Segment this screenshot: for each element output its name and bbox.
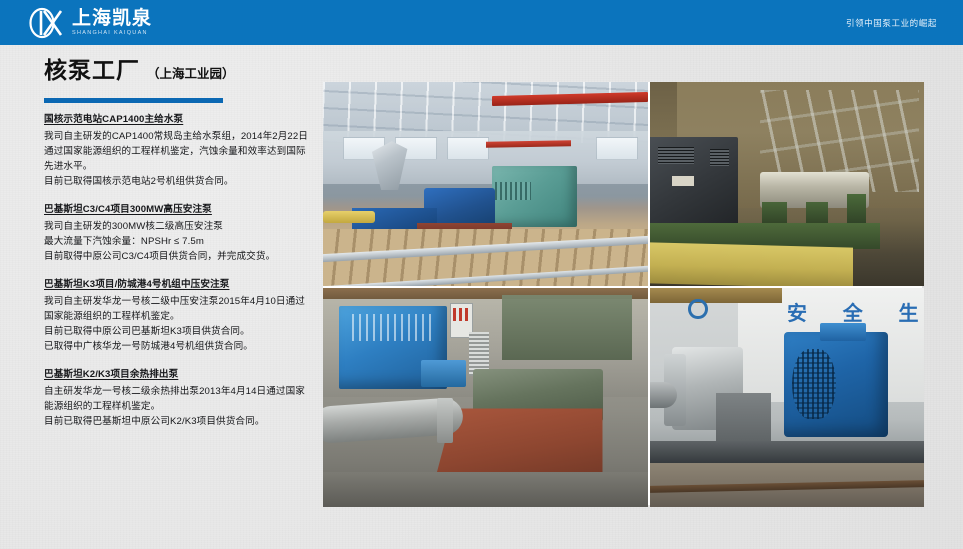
block-4-line-1: 自主研发华龙一号核二级余热排出泵2013年4月14日通过国家: [44, 384, 312, 399]
block-1-line-1: 我司自主研发的CAP1400常规岛主给水泵组，2014年2月22日: [44, 129, 312, 144]
motor-nameplate: [672, 176, 694, 186]
wall-safety-slogan: 安 全 生: [787, 297, 919, 326]
page-title: 核泵工厂 （上海工业园）: [44, 58, 312, 84]
background-green-equipment: [502, 295, 632, 361]
green-support-block: [847, 194, 866, 225]
block-1-line-3: 先进水平。: [44, 159, 312, 174]
block-1-line-4: 目前已取得国核示范电站2号机组供货合同。: [44, 174, 312, 189]
logo-text-en: SHANGHAI KAIQUAN: [72, 28, 152, 36]
brand-logo[interactable]: 上海凯泉 SHANGHAI KAIQUAN: [28, 6, 152, 40]
yellow-floor-curb: [650, 243, 853, 286]
wall-slogan-char-2: 全: [843, 297, 863, 326]
block-4-line-3: 目前已取得巴基斯坦中原公司K2/K3项目供货合同。: [44, 414, 312, 429]
green-support-block: [806, 202, 828, 224]
photo-dark-plant-green-pump: [650, 82, 924, 286]
pipe-flange: [437, 398, 453, 444]
photo-grid: 安 全 生: [323, 82, 922, 505]
block-1-heading: 国核示范电站CAP1400主给水泵: [44, 112, 312, 127]
photo-factory-hall: [323, 82, 648, 286]
yellow-pipe: [323, 211, 375, 223]
kaiquan-mark-icon: [28, 7, 64, 39]
motor-vent-grille: [658, 147, 694, 163]
photo-test-bay-blue-motor: 安 全 生: [650, 288, 924, 507]
wall-slogan-char-3: 生: [899, 297, 919, 326]
overhead-beam: [650, 288, 782, 303]
motor-cooling-fins: [352, 314, 433, 340]
block-2-line-3: 目前取得中原公司C3/C4项目供货合同，并完成交货。: [44, 249, 312, 264]
block-3-line-2: 国家能源组织的工程样机鉴定。: [44, 309, 312, 324]
motor-ventilation-grille: [792, 349, 836, 419]
teal-motor-vent: [495, 182, 531, 200]
block-3-heading: 巴基斯坦K3项目/防城港4号机组中压安注泵: [44, 277, 312, 292]
block-1-line-2: 通过国家能源组织的工程样机鉴定，汽蚀余量和效率达到国际: [44, 144, 312, 159]
block-4-line-2: 能源组织的工程样机鉴定。: [44, 399, 312, 414]
hall-window: [596, 137, 638, 159]
hand-wheel-valve-icon: [688, 299, 707, 319]
text-block-2: 巴基斯坦C3/C4项目300MW高压安注泵 我司自主研发的300MW核二级高压安…: [44, 202, 312, 264]
text-block-4: 巴基斯坦K2/K3项目余热排出泵 自主研发华龙一号核二级余热排出泵2013年4月…: [44, 367, 312, 429]
green-support-block: [762, 202, 787, 224]
block-4-heading: 巴基斯坦K2/K3项目余热排出泵: [44, 367, 312, 382]
workshop-floor: [323, 472, 648, 507]
block-2-line-2: 最大流量下汽蚀余量：NPSHr ≤ 7.5m: [44, 234, 312, 249]
test-bed-skid: [650, 441, 924, 465]
content-column: 核泵工厂 （上海工业园） 国核示范电站CAP1400主给水泵 我司自主研发的CA…: [44, 58, 312, 442]
motor-terminal-box: [820, 323, 867, 341]
block-3-line-3: 目前已取得中原公司巴基斯坦K3项目供货合同。: [44, 324, 312, 339]
page-title-sub: （上海工业园）: [147, 64, 235, 84]
block-3-line-4: 已取得中广核华龙一号防城港4号机组供货合同。: [44, 339, 312, 354]
wall-slogan-char-1: 安: [787, 297, 807, 326]
motor-vent-grille: [710, 149, 729, 165]
title-divider: [44, 98, 223, 103]
header-bar: 上海凯泉 SHANGHAI KAIQUAN 引领中国泵工业的崛起: [0, 0, 963, 45]
panel-indicator-lights: [453, 308, 469, 321]
page-title-main: 核泵工厂: [44, 58, 140, 84]
header-tagline: 引领中国泵工业的崛起: [846, 17, 937, 29]
block-2-line-1: 我司自主研发的300MW核二级高压安注泵: [44, 219, 312, 234]
motor-shaft-coupling: [421, 360, 467, 386]
text-block-1: 国核示范电站CAP1400主给水泵 我司自主研发的CAP1400常规岛主给水泵组…: [44, 112, 312, 189]
photo-blue-motor-green-pump: [323, 288, 648, 507]
block-3-line-1: 我司自主研发华龙一号核二级中压安注泵2015年4月10日通过: [44, 294, 312, 309]
hall-window: [447, 137, 489, 159]
logo-text-cn: 上海凯泉: [72, 9, 152, 29]
text-block-3: 巴基斯坦K3项目/防城港4号机组中压安注泵 我司自主研发华龙一号核二级中压安注泵…: [44, 277, 312, 354]
block-2-heading: 巴基斯坦C3/C4项目300MW高压安注泵: [44, 202, 312, 217]
slide-root: 上海凯泉 SHANGHAI KAIQUAN 引领中国泵工业的崛起 核泵工厂 （上…: [0, 0, 963, 549]
